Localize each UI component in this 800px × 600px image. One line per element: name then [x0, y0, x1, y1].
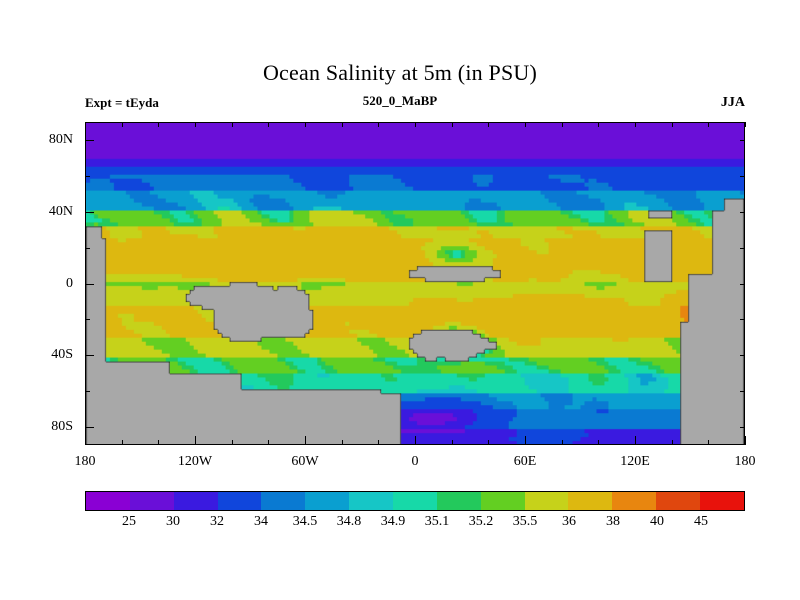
y-major-tick	[85, 427, 94, 428]
x-major-tick	[415, 436, 416, 445]
x-minor-tick-top	[378, 122, 379, 127]
colorbar-tick-label: 36	[562, 514, 576, 530]
x-minor-tick	[122, 440, 123, 445]
y-minor-tick	[85, 319, 90, 320]
salinity-contour-map	[86, 123, 744, 444]
y-major-tick	[85, 212, 94, 213]
x-minor-tick-top	[525, 122, 526, 127]
x-minor-tick	[342, 440, 343, 445]
colorbar-band	[305, 492, 349, 510]
x-minor-tick-top	[672, 122, 673, 127]
y-major-tick	[85, 284, 94, 285]
colorbar-tick-label: 30	[166, 514, 180, 530]
x-minor-tick	[488, 440, 489, 445]
x-minor-tick-top	[122, 122, 123, 127]
y-minor-tick-right	[740, 248, 745, 249]
colorbar-band	[174, 492, 218, 510]
colorbar-band	[612, 492, 656, 510]
y-minor-tick-right	[740, 140, 745, 141]
x-major-tick	[305, 436, 306, 445]
x-minor-tick-top	[562, 122, 563, 127]
x-minor-tick-top	[158, 122, 159, 127]
colorbar-band	[437, 492, 481, 510]
x-major-tick	[525, 436, 526, 445]
y-axis-label: 0	[0, 276, 73, 292]
x-minor-tick	[562, 440, 563, 445]
colorbar-tick-label: 32	[210, 514, 224, 530]
colorbar-tick-label: 35.5	[513, 514, 538, 530]
x-minor-tick-top	[415, 122, 416, 127]
page-title: Ocean Salinity at 5m (in PSU)	[0, 60, 800, 86]
colorbar-band	[525, 492, 569, 510]
x-minor-tick-top	[452, 122, 453, 127]
y-minor-tick-right	[740, 427, 745, 428]
colorbar-band	[218, 492, 262, 510]
x-minor-tick-top	[488, 122, 489, 127]
colorbar-band	[700, 492, 744, 510]
y-minor-tick-right	[740, 319, 745, 320]
colorbar-tick-label: 38	[606, 514, 620, 530]
y-major-tick	[85, 140, 94, 141]
colorbar-tick-label: 35.2	[469, 514, 494, 530]
x-major-tick	[85, 436, 86, 445]
colorbar-tick-label: 34.5	[293, 514, 318, 530]
x-major-tick	[195, 436, 196, 445]
colorbar-tick-label: 34	[254, 514, 268, 530]
x-major-tick	[635, 436, 636, 445]
x-minor-tick	[158, 440, 159, 445]
season-label: JJA	[721, 95, 745, 111]
x-minor-tick-top	[635, 122, 636, 127]
x-minor-tick-top	[745, 122, 746, 127]
colorbar-tick-label: 34.8	[337, 514, 362, 530]
y-minor-tick-right	[740, 284, 745, 285]
y-minor-tick	[85, 248, 90, 249]
x-axis-label: 0	[412, 454, 419, 470]
x-minor-tick-top	[85, 122, 86, 127]
x-major-tick	[745, 436, 746, 445]
colorbar-band	[481, 492, 525, 510]
x-minor-tick-top	[305, 122, 306, 127]
x-minor-tick	[708, 440, 709, 445]
x-axis-label: 180	[75, 454, 96, 470]
x-minor-tick-top	[708, 122, 709, 127]
colorbar-band	[656, 492, 700, 510]
y-axis-label: 80N	[0, 132, 73, 148]
x-minor-tick-top	[598, 122, 599, 127]
x-minor-tick	[452, 440, 453, 445]
colorbar-tick-label: 25	[122, 514, 136, 530]
x-minor-tick-top	[268, 122, 269, 127]
y-axis-label: 40S	[0, 347, 73, 363]
x-axis-label: 120E	[620, 454, 650, 470]
x-minor-tick	[672, 440, 673, 445]
y-minor-tick-right	[740, 176, 745, 177]
x-minor-tick-top	[342, 122, 343, 127]
x-minor-tick-top	[195, 122, 196, 127]
y-major-tick	[85, 355, 94, 356]
colorbar-band	[349, 492, 393, 510]
colorbar-band	[393, 492, 437, 510]
colorbar-tick-label: 40	[650, 514, 664, 530]
y-minor-tick-right	[740, 355, 745, 356]
y-minor-tick-right	[740, 391, 745, 392]
y-axis-label: 40N	[0, 204, 73, 220]
colorbar-band	[86, 492, 130, 510]
y-minor-tick-right	[740, 212, 745, 213]
x-minor-tick-top	[232, 122, 233, 127]
x-minor-tick	[598, 440, 599, 445]
colorbar-band	[130, 492, 174, 510]
x-minor-tick	[378, 440, 379, 445]
x-minor-tick	[268, 440, 269, 445]
colorbar-tick-label: 34.9	[381, 514, 406, 530]
x-axis-label: 120W	[178, 454, 212, 470]
y-minor-tick	[85, 176, 90, 177]
colorbar-band	[261, 492, 305, 510]
y-minor-tick	[85, 391, 90, 392]
y-axis-label: 80S	[0, 419, 73, 435]
colorbar-tick-label: 45	[694, 514, 708, 530]
x-axis-label: 180	[735, 454, 756, 470]
colorbar-tick-label: 35.1	[425, 514, 450, 530]
x-axis-label: 60W	[291, 454, 318, 470]
colorbar	[85, 491, 745, 511]
experiment-label: Expt = tEyda	[85, 95, 159, 111]
figure-root: Ocean Salinity at 5m (in PSU) 520_0_MaBP…	[0, 0, 800, 600]
x-axis-label: 60E	[514, 454, 537, 470]
map-plot-area	[85, 122, 745, 445]
colorbar-band	[568, 492, 612, 510]
x-minor-tick	[232, 440, 233, 445]
